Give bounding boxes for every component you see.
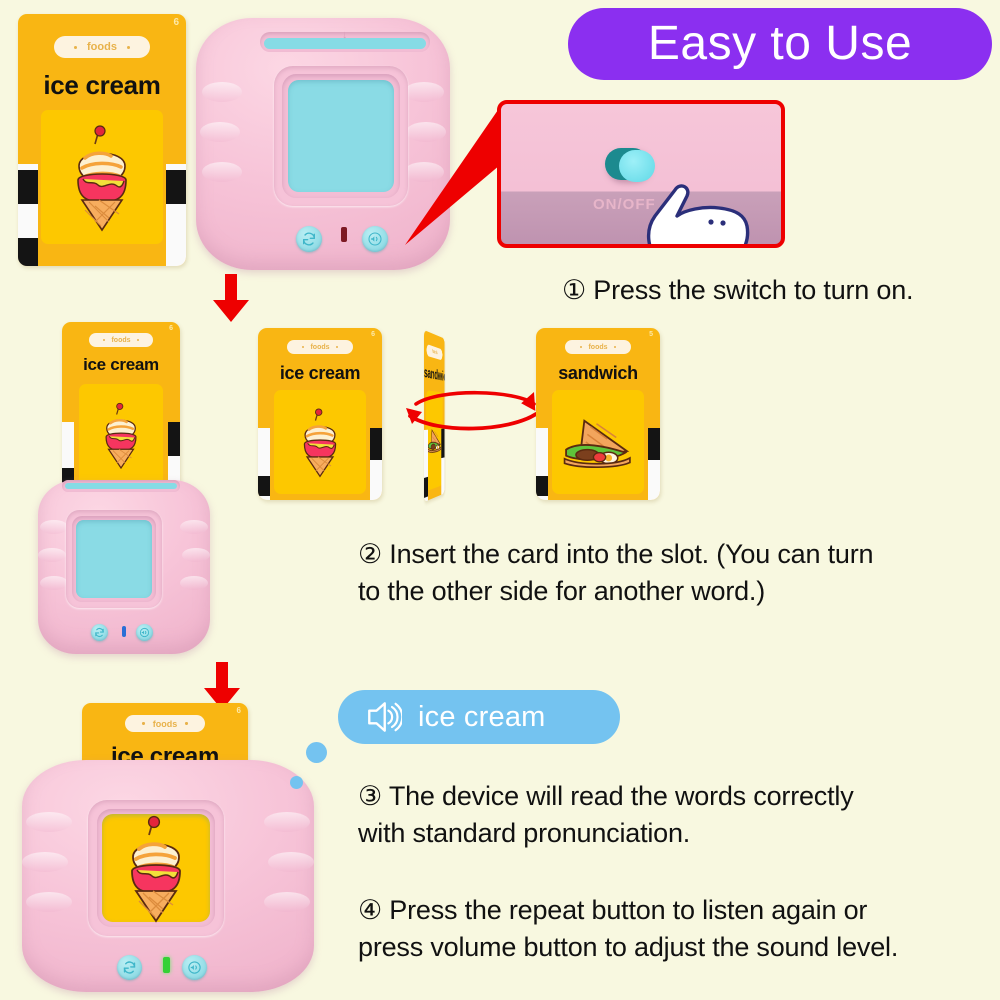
switch-callout: ON/OFF [497, 100, 785, 248]
screen-bezel [282, 74, 400, 198]
pointing-hand-icon [641, 160, 761, 248]
rotate-arrows-icon [398, 382, 548, 442]
card-number: 6 [169, 325, 173, 332]
card-artwork [274, 390, 366, 494]
sandwich-icon [560, 414, 636, 470]
ice-cream-cone-icon [119, 812, 193, 924]
repeat-icon [122, 960, 137, 975]
device-ridge [200, 122, 240, 142]
card-category-pill: foods [54, 36, 150, 58]
device-ridge [38, 548, 66, 562]
card-category-pill: foods [287, 340, 353, 354]
card-category-pill: foods [565, 340, 631, 354]
ice-cream-cone-icon [98, 398, 144, 472]
card-artwork [552, 390, 644, 494]
card-category-pill: foods [89, 333, 153, 347]
pill-dot-right [127, 46, 130, 49]
card-word: sandwich [536, 363, 660, 384]
card-artwork [41, 110, 163, 244]
repeat-button[interactable] [117, 955, 142, 980]
card-category-label: foods [153, 719, 178, 729]
card-word: ice cream [62, 355, 180, 375]
device-ridge [22, 852, 68, 872]
volume-icon [367, 231, 383, 247]
card-category-pill: foods [125, 715, 205, 732]
infographic-root: Easy to Use 6 foods ice cream [0, 0, 1000, 1000]
volume-button[interactable] [362, 226, 388, 252]
device-screen [288, 80, 394, 192]
repeat-icon [301, 231, 317, 247]
card-number: 6 [371, 331, 375, 338]
step-1-text: ① Press the switch to turn on. [562, 272, 992, 309]
device-middle[interactable] [38, 480, 210, 654]
device-ridge [26, 892, 72, 912]
device-bottom[interactable] [22, 760, 314, 992]
device-ridge [264, 812, 310, 832]
flashcard-sandwich[interactable]: 5 foods sandwich [536, 328, 660, 500]
ice-cream-cone-icon [65, 122, 139, 232]
screen-frame [274, 66, 408, 206]
card-mark-left [18, 164, 38, 266]
ice-cream-cone-icon [296, 404, 344, 480]
status-led [341, 227, 347, 242]
screen-bezel [97, 809, 215, 927]
card-mark-right [370, 428, 382, 500]
device-ridge [182, 548, 210, 562]
step-2-text: ② Insert the card into the slot. (You ca… [358, 536, 998, 611]
pill-dot-right [185, 722, 187, 724]
device-screen [76, 520, 152, 598]
sound-bubble-large [306, 742, 327, 763]
repeat-icon [94, 627, 105, 638]
device-ridge [202, 162, 242, 182]
card-category-label: foods [432, 349, 437, 356]
card-mark-left [536, 428, 548, 500]
pronunciation-word: ice cream [418, 701, 546, 734]
device-ridge [26, 812, 72, 832]
screen-frame [88, 800, 224, 936]
device-ridge [180, 576, 208, 590]
card-mark-right [648, 428, 660, 500]
volume-icon [139, 627, 150, 638]
step-3-line-2: with standard pronunciation. [358, 815, 998, 852]
screen-frame [66, 510, 162, 608]
flashcard-ice-cream-inserted[interactable]: 6 foods ice cream [62, 322, 180, 494]
device-ridge [40, 576, 68, 590]
screen-bezel [72, 516, 156, 602]
volume-button[interactable] [182, 955, 207, 980]
card-number: 6 [237, 706, 241, 715]
flashcard-flip-front[interactable]: 6 foods ice cream [258, 328, 382, 500]
pill-dot-right [614, 346, 616, 348]
card-number: 5 [649, 331, 653, 338]
step-3-line-1: ③ The device will read the words correct… [358, 778, 998, 815]
pill-dot-left [302, 346, 304, 348]
device-ridge [180, 520, 208, 534]
card-category-label: foods [310, 344, 329, 351]
pill-dot-left [142, 722, 144, 724]
device-ridge [40, 520, 68, 534]
device-ridge [268, 852, 314, 872]
card-category-pill: foods [427, 344, 443, 361]
card-number: 6 [173, 17, 179, 28]
card-mark-right [166, 164, 186, 266]
pill-dot-left [103, 339, 105, 341]
repeat-button[interactable] [296, 226, 322, 252]
card-slot[interactable] [62, 480, 180, 492]
pill-dot-right [137, 339, 139, 341]
device-ridge [202, 82, 242, 102]
card-slot-opening [65, 483, 177, 489]
card-category-label: foods [111, 337, 130, 344]
step-4-line-1: ④ Press the repeat button to listen agai… [358, 892, 1000, 929]
flashcard-ice-cream-top[interactable]: 6 foods ice cream [18, 14, 186, 266]
arrow-down-icon [205, 272, 257, 324]
card-category-label: foods [588, 344, 607, 351]
volume-button[interactable] [136, 624, 153, 641]
banner-title: Easy to Use [648, 20, 912, 68]
pill-dot-left [580, 346, 582, 348]
status-led [163, 957, 170, 973]
card-category-label: foods [87, 41, 117, 53]
repeat-button[interactable] [91, 624, 108, 641]
step-3-text: ③ The device will read the words correct… [358, 778, 998, 853]
pill-dot-right [336, 346, 338, 348]
pronunciation-bubble: ice cream [338, 690, 620, 744]
step-4-text: ④ Press the repeat button to listen agai… [358, 892, 1000, 967]
card-mark-left [258, 428, 270, 500]
step-2-line-1: ② Insert the card into the slot. (You ca… [358, 536, 998, 573]
card-artwork [79, 384, 163, 486]
card-word: ice cream [258, 363, 382, 384]
step-2-line-2: to the other side for another word.) [358, 573, 998, 610]
card-word: ice cream [18, 70, 186, 101]
device-ridge [264, 892, 310, 912]
pill-dot-left [74, 46, 77, 49]
step-4-line-2: press volume button to adjust the sound … [358, 929, 1000, 966]
volume-icon [187, 960, 202, 975]
status-led [122, 626, 126, 637]
sound-bubble-small [290, 776, 303, 789]
speaker-icon [362, 700, 402, 734]
easy-to-use-banner: Easy to Use [568, 8, 992, 80]
slot-insert-arrow-icon: ↓ [342, 30, 348, 41]
device-screen [102, 814, 210, 922]
